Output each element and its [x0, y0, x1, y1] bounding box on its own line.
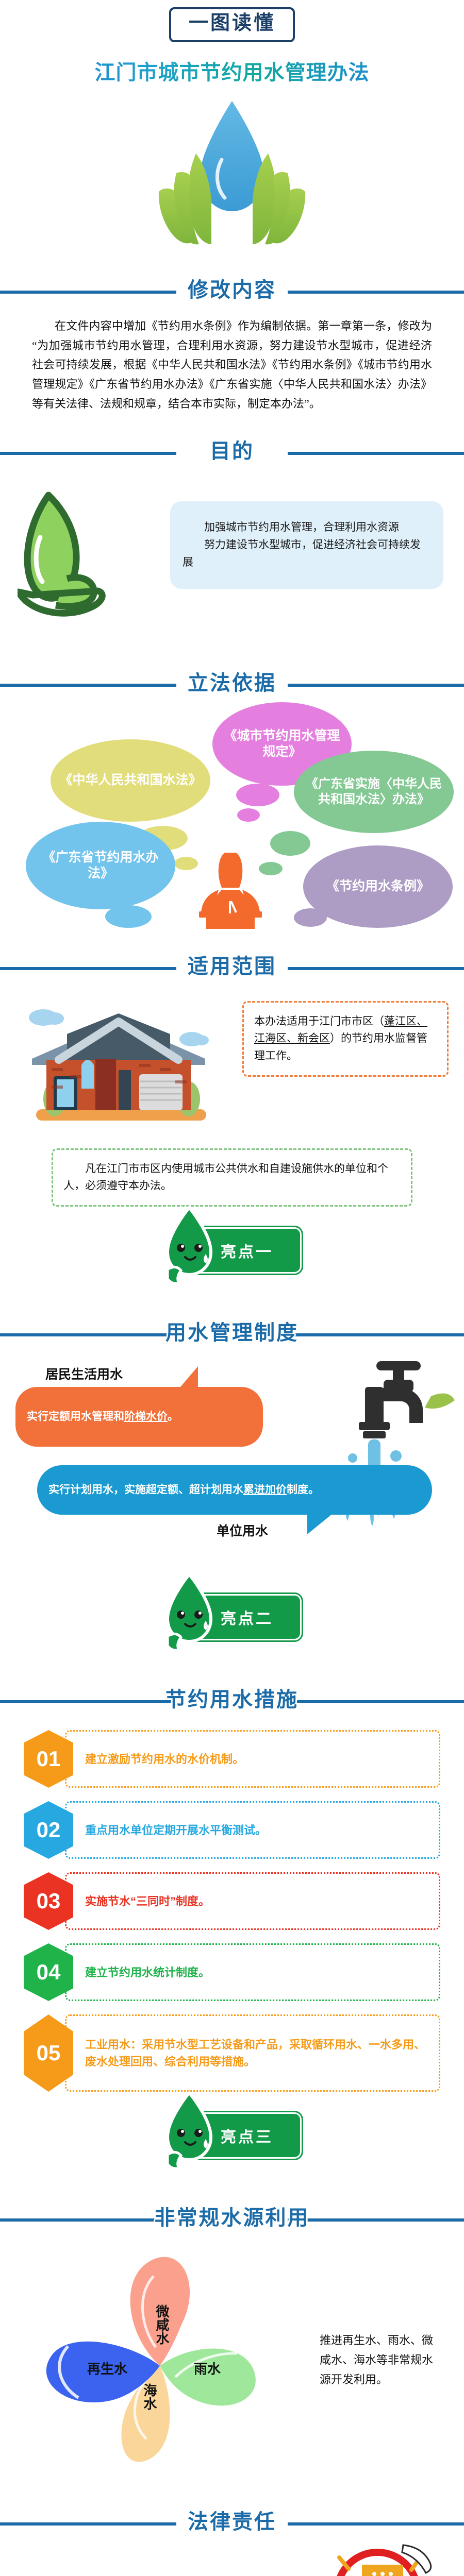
unit-water-label: 单位用水 [217, 1521, 268, 1539]
section-header-measures: 节约用水措施 [0, 1675, 464, 1720]
rule-right [288, 291, 464, 294]
section-title-legal-basis: 立法依据 [185, 666, 279, 696]
rule-right [288, 2522, 464, 2526]
resident-water-label: 居民生活用水 [45, 1364, 123, 1383]
unit-text-underline: 累进加价 [243, 1484, 287, 1496]
resident-text-post: 。 [168, 1411, 178, 1422]
resident-text-underline: 阶梯水价 [124, 1411, 168, 1422]
gavel-stamp-icon [317, 2533, 445, 2576]
water-drop-icon [119, 98, 345, 252]
unit-text-post: 制度。 [287, 1484, 319, 1496]
section-header-legal-basis: 立法依据 [0, 659, 464, 703]
unit-water-bubble: 实行计划用水，实施超定额、超计划用水累进加价制度。 [37, 1465, 432, 1515]
scope-box-compliance: 凡在江门市市区内使用城市公共供水和自建设施供水的单位和个人，必须遵守本办法。 [52, 1148, 412, 1207]
resident-water-bubble: 实行定额用水管理和阶梯水价。 [15, 1387, 263, 1447]
measure-row: 01 建立激励节约用水的水价机制。 [24, 1730, 440, 1788]
house-icon [21, 1003, 217, 1134]
water-drop-mascot-icon [157, 1571, 235, 1659]
rule-right [288, 1333, 464, 1336]
highlight-badge-one: 亮点一 [0, 1227, 464, 1295]
rule-left [0, 452, 176, 455]
measure-row: 05 工业用水：采用节水型工艺设备和产品，采取循环用水、一水多用、废水处理回用、… [24, 2014, 440, 2092]
purpose-line-2: 努力建设节水型城市，促进经济社会可持续发展 [183, 536, 430, 571]
petal-rainwater [160, 2349, 256, 2406]
rule-right [288, 452, 464, 455]
unit-text-pre: 实行计划用水，实施超定额、超计划用水 [48, 1484, 243, 1496]
measures-list: 01 建立激励节约用水的水价机制。 02 重点用水单位定期开展水平衡测试。 03… [0, 1724, 464, 2092]
measure-text: 实施节水“三同时”制度。 [65, 1872, 440, 1930]
podium-speaker-icon [186, 852, 278, 929]
petal-label-brackish: 微咸水 [154, 2304, 170, 2345]
measure-text: 建立节约用水统计制度。 [65, 1943, 440, 2001]
resident-bubble-tail [174, 1366, 198, 1394]
legal-bubble-dot [294, 908, 327, 927]
resident-text-pre: 实行定额用水管理和 [27, 1411, 124, 1422]
petal-label-sea: 海水 [142, 2383, 157, 2410]
rule-left [0, 967, 176, 970]
leaf-in-hand-icon [18, 490, 146, 626]
measure-row: 04 建立节约用水统计制度。 [24, 1943, 440, 2001]
water-drop-mascot-icon [157, 1205, 235, 1292]
measure-text: 重点用水单位定期开展水平衡测试。 [65, 1801, 440, 1859]
measure-text: 建立激励节约用水的水价机制。 [65, 1730, 440, 1788]
hero-illustration [0, 98, 464, 252]
measure-row: 02 重点用水单位定期开展水平衡测试。 [24, 1801, 440, 1859]
water-management-block: 居民生活用水 实行定额用水管理和阶梯水价。 实行计划用水，实施超定额、超计划用水… [0, 1357, 464, 1573]
section-header-unconventional: 非常规水源利用 [0, 2194, 464, 2238]
hero-header: 一图读懂 江门市城市节约用水管理办法 [0, 0, 464, 252]
section-title-water-mgmt: 用水管理制度 [162, 1316, 302, 1346]
water-drop-mascot-icon [157, 2090, 235, 2177]
purpose-block: 加强城市节约用水管理，合理利用水资源 努力建设节水型城市，促进经济社会可持续发展 [0, 476, 464, 646]
unit-bubble-tail [307, 1512, 335, 1534]
purpose-line-1: 加强城市节约用水管理，合理利用水资源 [183, 519, 430, 536]
unconventional-note: 推进再生水、雨水、微咸水、海水等非常规水源开发利用。 [320, 2331, 441, 2389]
rule-left [0, 291, 176, 294]
liability-block: 违反本办法有关规定的，按《中华人民共和国水法》《广东省节约用水办法》等有关法律、… [0, 2546, 464, 2576]
legal-bubble-gd-water-saving: 《广东省节约用水办法》 [26, 822, 175, 909]
measure-text: 工业用水：采用节水型工艺设备和产品，采取循环用水、一水多用、废水处理回用、综合利… [65, 2014, 440, 2092]
scope-box-applicability: 本办法适用于江门市市区（蓬江区、江海区、新会区）的节约用水监督管理工作。 [242, 1001, 449, 1077]
rule-left [0, 1333, 176, 1336]
section-title-liability: 法律责任 [185, 2505, 279, 2535]
highlight-badge-two: 亮点二 [0, 1594, 464, 1662]
legal-bubble-dot [236, 784, 279, 806]
amendment-paragraph: 在文件内容中增加《节约用水条例》作为编制依据。第一章第一条，修改为“为加强城市节… [0, 314, 464, 414]
rule-left [0, 2218, 176, 2222]
legal-bubble-water-law: 《中华人民共和国水法》 [51, 739, 210, 822]
petal-label-recycled: 再生水 [87, 2361, 128, 2377]
legal-bubble-dot [105, 905, 152, 928]
rule-right [288, 2218, 464, 2222]
section-title-scope: 适用范围 [185, 950, 279, 979]
section-title-purpose: 目的 [207, 434, 257, 464]
purpose-bubble: 加强城市节约用水管理，合理利用水资源 努力建设节水型城市，促进经济社会可持续发展 [170, 501, 443, 589]
rule-left [0, 684, 176, 687]
section-header-amendment: 修改内容 [0, 266, 464, 310]
hands-holding-drop-icon [159, 154, 211, 244]
pinwheel-diagram: 微咸水 雨水 海水 再生水 [21, 2247, 309, 2479]
petal-label-rain: 雨水 [194, 2361, 221, 2377]
rule-right [288, 967, 464, 970]
scope-block: 本办法适用于江门市市区（蓬江区、江海区、新会区）的节约用水监督管理工作。 [0, 991, 464, 1145]
legal-basis-bubbles: 《中华人民共和国水法》 《城市节约用水管理规定》 《广东省实施〈中华人民共和国水… [0, 707, 464, 929]
section-header-purpose: 目的 [0, 427, 464, 471]
page-title: 江门市城市节约用水管理办法 [0, 56, 464, 86]
section-header-scope: 适用范围 [0, 942, 464, 987]
hero-badge: 一图读懂 [169, 7, 295, 42]
rule-right [288, 1700, 464, 1703]
legal-bubble-gd-implementation: 《广东省实施〈中华人民共和国水法〉办法》 [294, 751, 454, 833]
highlight-badge-three: 亮点三 [0, 2112, 464, 2180]
legal-bubble-dot [237, 808, 260, 822]
section-title-unconventional: 非常规水源利用 [152, 2201, 313, 2231]
section-title-amendment: 修改内容 [185, 273, 279, 303]
section-title-measures: 节约用水措施 [162, 1683, 302, 1713]
rule-right [288, 684, 464, 687]
measure-row: 03 实施节水“三同时”制度。 [24, 1872, 440, 1930]
section-header-water-mgmt: 用水管理制度 [0, 1309, 464, 1353]
scope-text-pre: 本办法适用于江门市市区（ [254, 1015, 384, 1027]
rule-left [0, 2522, 176, 2526]
unconventional-block: 微咸水 雨水 海水 再生水 推进再生水、雨水、微咸水、海水等非常规水源开发利用。 [0, 2242, 464, 2484]
rule-left [0, 1700, 176, 1703]
